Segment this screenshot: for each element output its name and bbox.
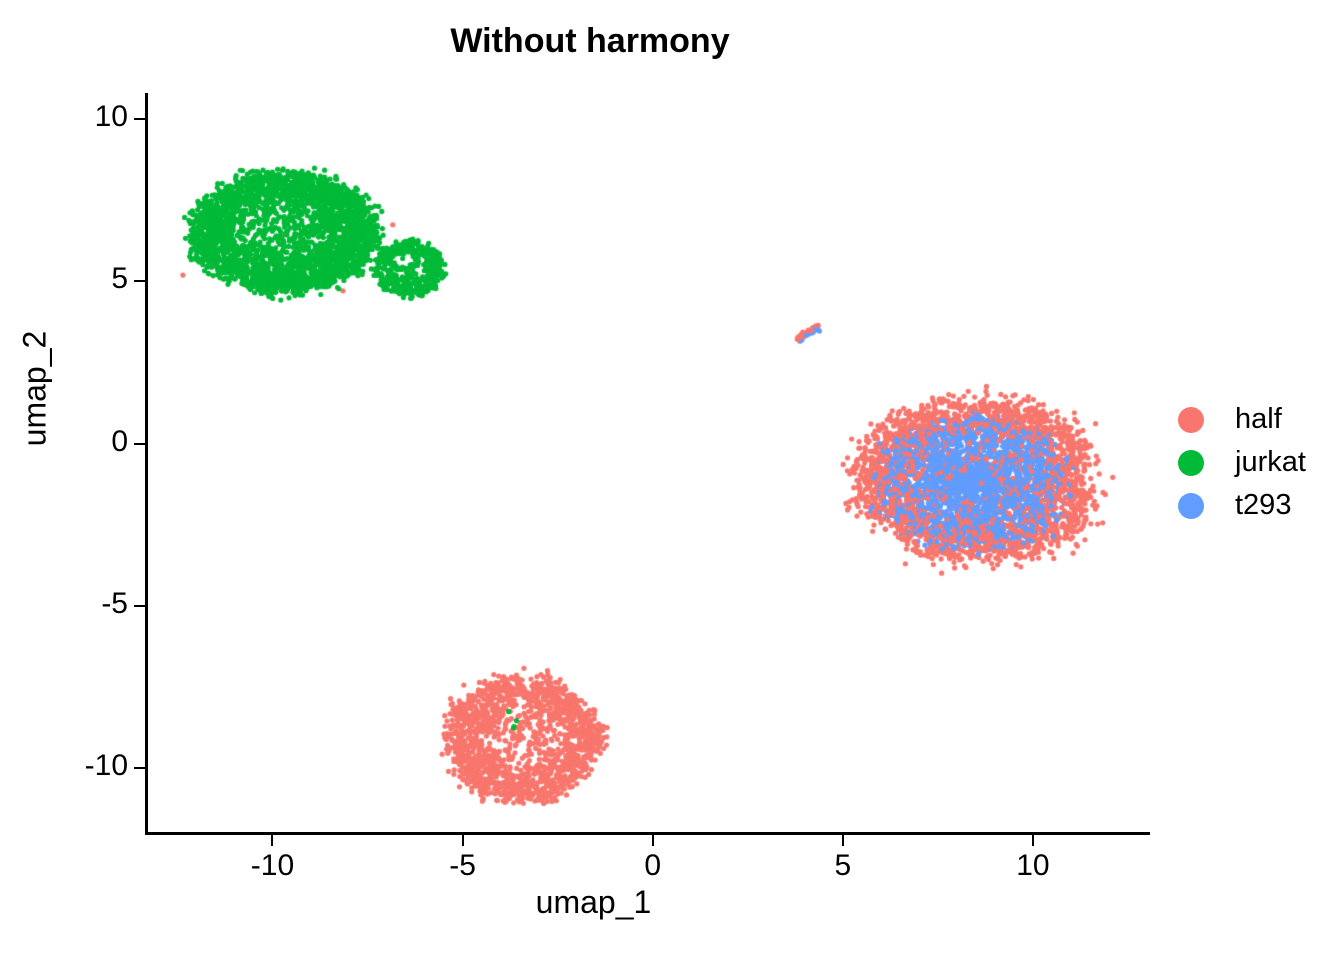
y-tick-mark	[134, 443, 145, 445]
umap-scatter-plot: Without harmony umap_2 umap_1 1050-5-10 …	[0, 0, 1344, 960]
legend-item-jurkat[interactable]: jurkat	[1178, 441, 1306, 484]
y-tick-label: -10	[8, 749, 128, 783]
y-tick-mark	[134, 280, 145, 282]
x-tick-label: 5	[783, 849, 903, 883]
x-tick-mark	[652, 835, 654, 846]
y-tick-mark	[134, 118, 145, 120]
x-axis-line	[145, 832, 1150, 835]
legend-item-t293[interactable]: t293	[1178, 484, 1306, 527]
scatter-points-canvas	[147, 90, 1147, 833]
x-tick-label: -5	[403, 849, 523, 883]
x-tick-label: 0	[593, 849, 713, 883]
y-axis-line	[145, 93, 148, 835]
x-tick-label: -10	[212, 849, 332, 883]
y-tick-mark	[134, 605, 145, 607]
y-tick-label: 0	[8, 425, 128, 459]
legend: halfjurkatt293	[1178, 398, 1306, 527]
legend-item-half[interactable]: half	[1178, 398, 1306, 441]
x-tick-mark	[842, 835, 844, 846]
x-tick-mark	[462, 835, 464, 846]
legend-key-dot-icon	[1178, 407, 1204, 433]
x-tick-mark	[1032, 835, 1034, 846]
legend-key-dot-icon	[1178, 493, 1204, 519]
legend-key-dot-icon	[1178, 450, 1204, 476]
legend-item-label: t293	[1235, 489, 1291, 522]
legend-item-label: half	[1235, 403, 1282, 436]
plot-panel	[147, 90, 1147, 833]
x-tick-mark	[271, 835, 273, 846]
y-tick-label: 5	[8, 262, 128, 296]
y-tick-label: 10	[8, 100, 128, 134]
x-axis-title: umap_1	[147, 884, 1040, 921]
legend-item-label: jurkat	[1235, 446, 1306, 479]
y-tick-label: -5	[8, 587, 128, 621]
y-tick-mark	[134, 767, 145, 769]
page-title: Without harmony	[0, 22, 1180, 61]
x-tick-label: 10	[973, 849, 1093, 883]
